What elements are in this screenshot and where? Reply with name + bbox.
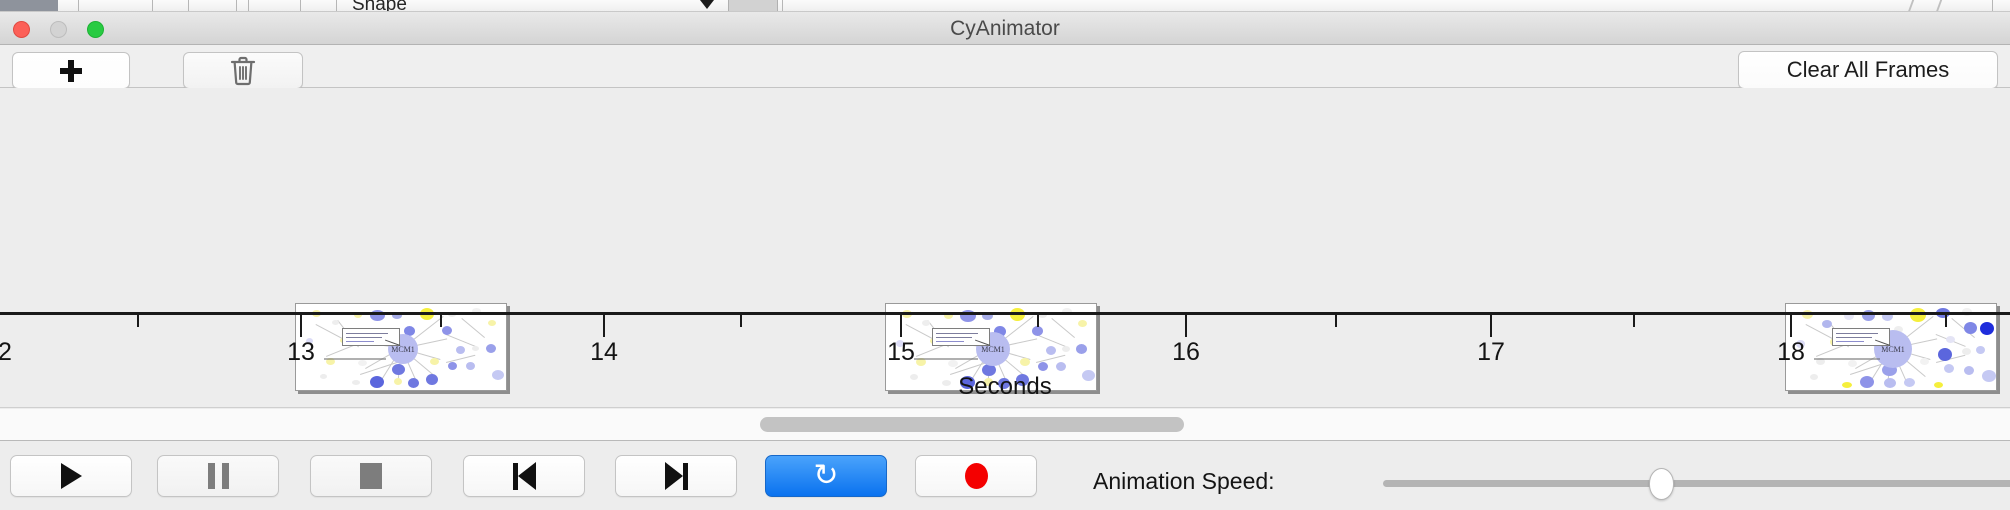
- plus-icon: [59, 59, 83, 83]
- playback-control-bar: ↻ Animation Speed:: [0, 442, 2010, 510]
- pause-button[interactable]: [157, 455, 279, 497]
- skip-forward-button[interactable]: [615, 455, 737, 497]
- axis-tick-minor: [1945, 315, 1947, 327]
- skip-forward-icon: [665, 462, 688, 490]
- animation-speed-label: Animation Speed:: [1093, 468, 1275, 495]
- loop-icon: ↻: [813, 461, 838, 491]
- axis-tick-label: 13: [287, 338, 315, 367]
- slider-rail: [1383, 480, 2010, 487]
- clear-all-frames-label: Clear All Frames: [1787, 57, 1950, 83]
- toolbar: Clear All Frames: [0, 45, 2010, 88]
- axis-tick-major: [1490, 315, 1492, 337]
- axis-tick-label: 14: [590, 338, 618, 367]
- timeline-scrollbar-track[interactable]: [0, 409, 2010, 441]
- timeline-panel[interactable]: MCM1: [0, 88, 2010, 408]
- record-button[interactable]: [915, 455, 1037, 497]
- skip-back-button[interactable]: [463, 455, 585, 497]
- axis-tick-minor: [1335, 315, 1337, 327]
- window-title: CyAnimator: [0, 12, 2010, 45]
- clear-all-frames-button[interactable]: Clear All Frames: [1738, 51, 1998, 89]
- axis-tick-minor: [1037, 315, 1039, 327]
- axis-tick-major: [1790, 315, 1792, 337]
- axis-tick-label: 16: [1172, 338, 1200, 367]
- record-icon: [965, 463, 988, 489]
- play-button[interactable]: [10, 455, 132, 497]
- axis-tick-minor: [440, 315, 442, 327]
- timeline-scrollbar-thumb[interactable]: [760, 417, 1184, 432]
- play-icon: [61, 463, 82, 489]
- axis-tick-major: [900, 315, 902, 337]
- title-bar: CyAnimator: [0, 12, 2010, 45]
- network-callout-box: [342, 328, 400, 346]
- axis-tick-label: 15: [887, 338, 915, 367]
- axis-tick-label: 17: [1477, 338, 1505, 367]
- axis-tick-major: [603, 315, 605, 337]
- background-window-strip: Shape: [0, 0, 2010, 12]
- loop-button[interactable]: ↻: [765, 455, 887, 497]
- axis-tick-label: 18: [1777, 338, 1805, 367]
- pause-icon: [208, 463, 229, 489]
- delete-frame-button[interactable]: [183, 52, 303, 89]
- animation-speed-slider[interactable]: [1383, 480, 2010, 487]
- axis-title: Seconds: [0, 373, 2010, 401]
- axis-tick-minor: [1633, 315, 1635, 327]
- axis-tick-minor: [740, 315, 742, 327]
- network-callout-box: [1832, 328, 1890, 346]
- axis-tick-major: [300, 315, 302, 337]
- stop-button[interactable]: [310, 455, 432, 497]
- background-window-label: Shape: [352, 0, 407, 12]
- stop-icon: [360, 463, 382, 489]
- trash-icon: [230, 56, 256, 86]
- axis-tick-label: 2: [0, 338, 12, 367]
- add-frame-button[interactable]: [12, 52, 130, 89]
- slider-thumb[interactable]: [1649, 468, 1674, 500]
- skip-back-icon: [513, 462, 536, 490]
- axis-tick-minor: [137, 315, 139, 327]
- cyanimator-window: Shape CyAnimator Clear All Frames: [0, 0, 2010, 510]
- network-callout-box: [932, 328, 990, 346]
- axis-tick-major: [1185, 315, 1187, 337]
